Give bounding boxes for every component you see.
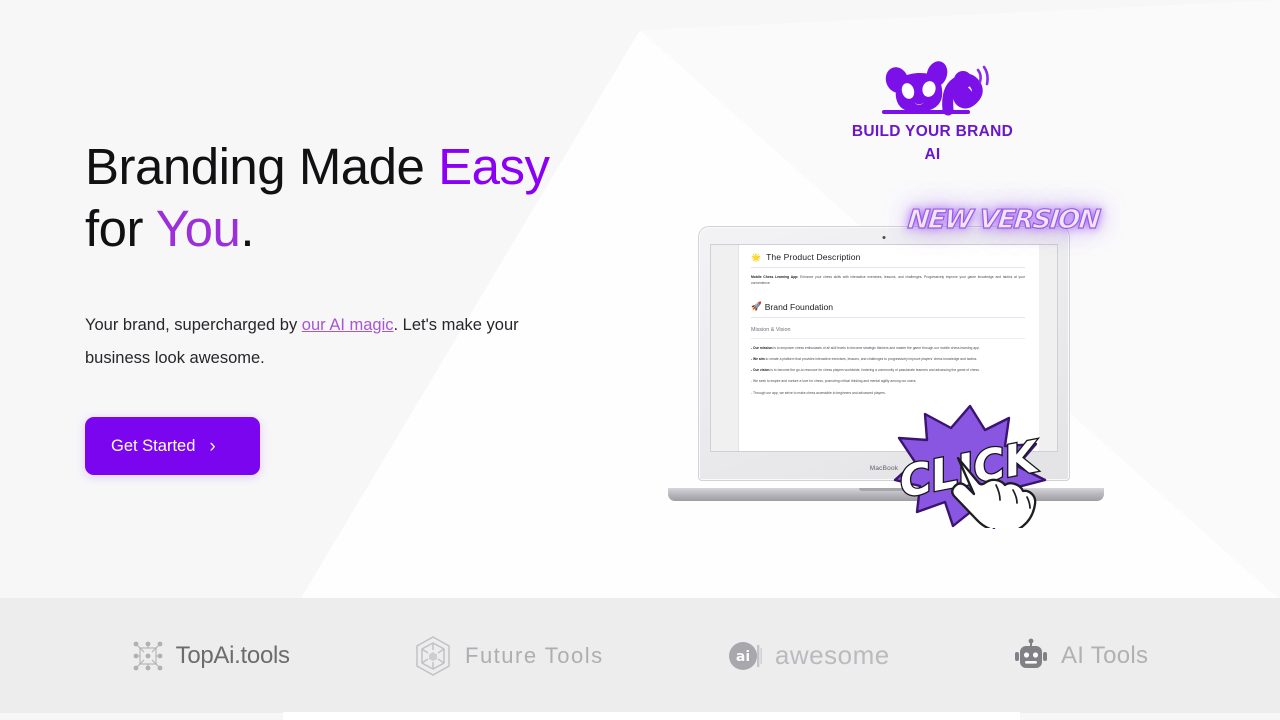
intro-bold-label: Mobile Chess Learning App: [751, 275, 798, 279]
hero-text-block: Branding Made Easy for You. Your brand, … [85, 136, 645, 475]
chevron-right-icon: › [209, 437, 215, 456]
bullet-bold: - Our vision [751, 368, 770, 372]
rocket-emoji-icon: 🚀 [751, 301, 762, 312]
partner-label: Future Tools [465, 643, 604, 669]
partner-label: AI Tools [1061, 642, 1148, 670]
laptop-base [668, 488, 1104, 501]
partner-logo-ai-tools[interactable]: AI Tools [1013, 638, 1148, 674]
list-item: - Through our app, we strive to make che… [751, 391, 1025, 397]
ai-circle-badge-icon: ai [727, 638, 763, 674]
page-title: Branding Made Easy for You. [85, 136, 645, 260]
bullet-text: is to become the go-to resource for ches… [770, 368, 980, 372]
bullet-text: is to empower chess enthusiasts of all s… [773, 346, 980, 350]
list-item: - Our mission is to empower chess enthus… [751, 346, 1025, 352]
bullet-text: to create a platform that provides inter… [765, 357, 978, 361]
headline-accent-easy: Easy [438, 138, 549, 195]
get-started-button[interactable]: Get Started › [85, 417, 260, 475]
document-sidebar [711, 245, 739, 451]
list-item: - We aim to create a platform that provi… [751, 357, 1025, 363]
subtitle-before: Your brand, supercharged by [85, 316, 302, 334]
laptop-screen[interactable]: 🌟 The Product Description Mobile Chess L… [710, 244, 1058, 452]
network-nodes-icon [132, 640, 164, 672]
headline-accent-you: You [156, 200, 241, 257]
partner-logo-ai-awesome[interactable]: ai awesome [727, 638, 890, 674]
bullet-text: - Through our app, we strive to make che… [751, 391, 886, 395]
robot-head-icon [1013, 638, 1049, 674]
document-body: 🌟 The Product Description Mobile Chess L… [739, 245, 1039, 451]
laptop-lid: 🌟 The Product Description Mobile Chess L… [698, 226, 1070, 481]
partner-logo-topai-tools[interactable]: TopAi.tools [132, 640, 290, 672]
partner-label: TopAi.tools [176, 642, 290, 670]
partner-logo-future-tools[interactable]: Future Tools [413, 635, 604, 677]
bullet-text: - We seek to inspire and nurture a love … [751, 379, 916, 383]
document-intro-paragraph: Mobile Chess Learning App: Enhance your … [751, 275, 1025, 286]
document-title: The Product Description [766, 252, 861, 262]
document-right-margin [1039, 245, 1057, 451]
list-item: - We seek to inspire and nurture a love … [751, 379, 1025, 385]
partner-label: awesome [775, 640, 890, 671]
hero-subtitle: Your brand, supercharged by our AI magic… [85, 309, 565, 375]
panda-waving-icon [874, 58, 992, 120]
headline-period: . [240, 200, 254, 257]
headline-part2: for [85, 200, 156, 257]
webcam-dot-icon [883, 236, 886, 239]
headline-part1: Branding Made [85, 138, 438, 195]
brand-logo[interactable]: BUILD YOUR BRAND AI [845, 58, 1020, 164]
ai-magic-link[interactable]: our AI magic [302, 316, 394, 334]
document-subsection-title: Mission & Vision [751, 327, 1025, 339]
landing-page: BUILD YOUR BRAND AI Branding Made Easy f… [0, 0, 1280, 720]
brand-name-line2: AI [845, 146, 1020, 164]
document-bullet-list: - Our mission is to empower chess enthus… [751, 346, 1025, 396]
footer-bottom-strip [283, 712, 1020, 720]
get-started-label: Get Started [111, 437, 195, 456]
document-title-row: 🌟 The Product Description [751, 252, 1025, 268]
document-section-title: Brand Foundation [765, 302, 833, 312]
bullet-bold: - Our mission [751, 346, 773, 350]
bullet-bold: - We aim [751, 357, 765, 361]
device-label: MacBook [699, 465, 1069, 472]
sparkle-emoji-icon: 🌟 [751, 253, 761, 262]
list-item: - Our vision is to become the go-to reso… [751, 368, 1025, 374]
partner-logo-strip: TopAi.tools Future Tools ai awesome [0, 598, 1280, 713]
hexagon-circuit-icon [413, 635, 453, 677]
brand-name-line1: BUILD YOUR BRAND [845, 123, 1020, 141]
svg-text:ai: ai [736, 649, 750, 665]
laptop-mockup: 🌟 The Product Description Mobile Chess L… [668, 226, 1104, 501]
document-section-title-row: 🚀 Brand Foundation [751, 301, 1025, 318]
